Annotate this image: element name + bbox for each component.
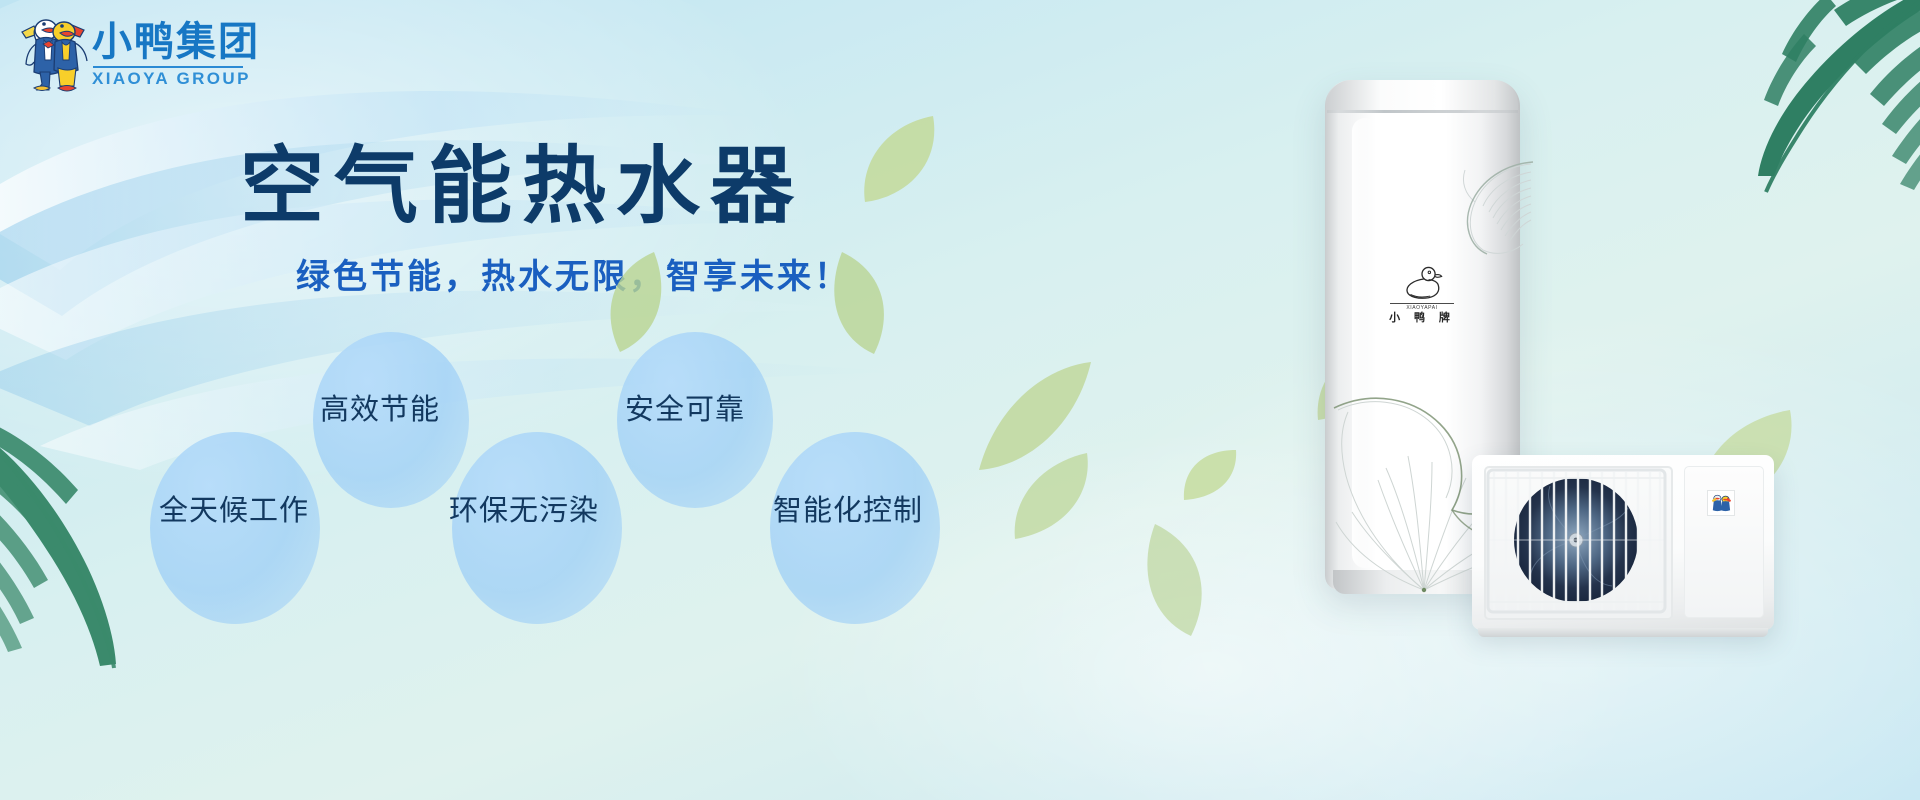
tank-logo-rule	[1390, 303, 1454, 304]
feature-label-3: 全天候工作	[159, 493, 309, 527]
feature-bubble-3[interactable]	[150, 432, 320, 624]
logo-chinese-name: 小鸭集团	[92, 22, 260, 62]
duck-mascots-icon	[16, 10, 90, 96]
feature-label-5: 智能化控制	[773, 493, 923, 527]
feature-bubble-4[interactable]	[452, 432, 622, 624]
feature-label-2: 安全可靠	[625, 392, 745, 426]
soft-leaf-icon-5	[1005, 445, 1095, 545]
tank-brand-mark: XIAOYAPAI 小 鸭 牌	[1382, 265, 1462, 324]
feature-label-4: 环保无污染	[449, 493, 599, 527]
feature-bubble-5[interactable]	[770, 432, 940, 624]
outdoor-unit-base	[1478, 628, 1768, 637]
soft-leaf-icon-4	[975, 358, 1095, 478]
outdoor-unit-side-panel	[1684, 466, 1764, 618]
feature-label-1: 高效节能	[320, 392, 440, 426]
duck-outline-icon	[1397, 265, 1447, 301]
promo-banner: 小鸭集团 XIAOYA GROUP 空气能热水器 绿色节能，热水无限，智享未来！…	[0, 0, 1920, 800]
duck-mascots-sticker-icon	[1710, 493, 1732, 513]
tank-brand-cn: 小 鸭 牌	[1382, 311, 1462, 324]
logo-english-name: XIAOYA GROUP	[92, 70, 260, 88]
tank-floral-pattern-top	[1435, 150, 1535, 280]
logo-divider	[93, 66, 243, 68]
tank-seam	[1327, 110, 1518, 113]
page-title: 空气能热水器	[240, 138, 940, 234]
page-subtitle: 绿色节能，热水无限，智享未来！	[296, 256, 940, 298]
outdoor-unit-brand-sticker	[1707, 490, 1735, 516]
headline-block: 空气能热水器 绿色节能，热水无限，智享未来！	[240, 138, 940, 298]
tank-top-cap	[1327, 80, 1518, 110]
logo-wordmark: 小鸭集团 XIAOYA GROUP	[92, 22, 260, 88]
fan-grille-icon	[1486, 468, 1667, 614]
brand-logo[interactable]: 小鸭集团 XIAOYA GROUP	[16, 10, 286, 96]
product-group: XIAOYAPAI 小 鸭 牌	[1090, 0, 1920, 800]
